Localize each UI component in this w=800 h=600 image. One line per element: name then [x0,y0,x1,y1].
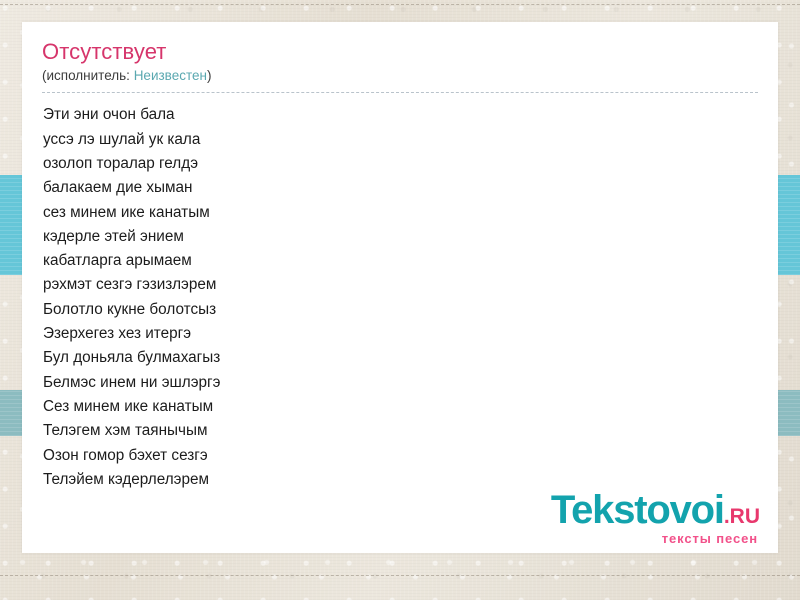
bottom-guide-line [0,575,800,576]
artist-line: (исполнитель: Неизвестен) [42,68,758,90]
artist-suffix-label: ) [207,68,212,83]
title-separator [42,92,758,93]
top-guide-line [0,4,800,5]
artist-prefix-label: (исполнитель: [42,68,134,83]
lyrics-text: Эти эни очон бала уссэ лэ шулай ук кала … [42,103,758,492]
logo-wordmark: Tekstovoi.RU [551,490,760,530]
site-logo[interactable]: Tekstovoi.RU тексты песен [551,490,760,545]
song-title: Отсутствует [42,40,758,64]
artist-name-link[interactable]: Неизвестен [134,68,207,83]
logo-name: Tekstovoi [551,488,724,532]
lyrics-card: Отсутствует (исполнитель: Неизвестен) Эт… [22,22,778,553]
logo-tagline: тексты песен [551,532,758,545]
logo-tld: .RU [724,505,760,528]
